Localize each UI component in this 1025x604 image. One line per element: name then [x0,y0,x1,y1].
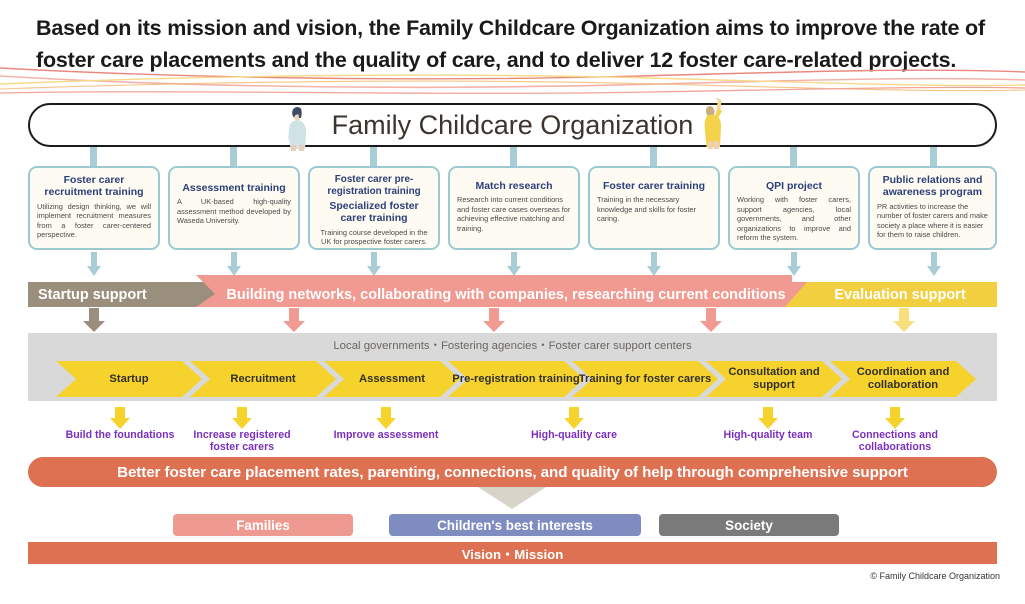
card-body: Working with foster carers, support agen… [737,195,851,242]
project-card-assessment-training[interactable]: Assessment training A UK-based high-qual… [168,166,300,250]
connector-stem [650,147,657,167]
project-card-match-research[interactable]: Match research Research into current con… [448,166,580,250]
connector-stem [230,147,237,167]
card-body: Training course developed in the UK for … [317,228,431,247]
pillar-childrens-best-interests[interactable]: Children's best interests [389,514,641,536]
person-standing-icon [286,103,316,151]
card-body: Research into current conditions and fos… [457,195,571,233]
process-step-label: Training for foster carers [576,361,714,397]
pillar-society[interactable]: Society [659,514,839,536]
down-arrow-icon [787,252,801,276]
person-raising-hand-icon [702,97,730,149]
down-arrow-icon [376,407,396,429]
card-title: Foster carer training [597,174,711,192]
down-arrow-icon [87,252,101,276]
down-arrow-icon [110,407,130,429]
vision-mission-banner: Vision・Mission [28,542,997,564]
down-arrow-icon [83,308,105,332]
process-step-label: Startup [56,361,202,397]
project-card-foster-carer-recruitment-training[interactable]: Foster carer recruitment training Utiliz… [28,166,160,250]
card-body: A UK-based high-quality assessment metho… [177,197,291,225]
project-card-public-relations-and-awareness-program[interactable]: Public relations and awareness program P… [868,166,997,250]
down-arrow-icon [700,308,722,332]
band-evaluation-support-label: Evaluation support [810,282,990,307]
card-body: Training in the necessary knowledge and … [597,195,711,223]
outcome-label: High-quality care [512,429,636,441]
result-banner: Better foster care placement rates, pare… [28,457,997,487]
process-step-label: Consultation and support [710,361,838,397]
connector-stem [930,147,937,167]
card-title: Foster carer recruitment training [37,174,151,199]
project-card-foster-carer-pre-registration-training[interactable]: Foster carer pre-registration training S… [308,166,440,250]
card-title: Match research [457,174,571,192]
down-arrow-icon [232,407,252,429]
down-arrow-icon [483,308,505,332]
process-step-label: Recruitment [190,361,336,397]
pillar-label: Families [236,518,290,533]
card-title: Public relations and awareness program [877,174,988,199]
down-arrow-icon [758,407,778,429]
card-subtitle: Specialized foster carer training [317,200,431,225]
band-building-networks-label: Building networks, collaborating with co… [216,282,796,307]
band-startup-support-label: Startup support [38,282,218,307]
card-title: Foster carer pre-registration training [317,174,431,199]
pillar-label: Children's best interests [437,518,593,533]
connector-stem [510,147,517,167]
card-title: Assessment training [177,174,291,194]
outcome-label: Increase registered foster carers [182,429,302,454]
connector-stem [370,147,377,167]
outcome-label: Improve assessment [316,429,456,441]
copyright-notice: © Family Childcare Organization [0,571,1000,581]
project-card-qpi-project[interactable]: QPI project Working with foster carers, … [728,166,860,250]
down-triangle-icon [478,487,546,509]
down-arrow-icon [283,308,305,332]
connector-stem [90,147,97,167]
down-arrow-icon [507,252,521,276]
card-title: QPI project [737,174,851,192]
process-step-label: Pre-registration training [452,361,580,397]
outcome-label: Connections and collaborations [835,429,955,454]
down-arrow-icon [885,407,905,429]
connector-stem [790,147,797,167]
process-partners-label: Local governments・Fostering agencies・Fos… [28,337,997,353]
process-step-label: Coordination and collaboration [834,361,972,397]
down-arrow-icon [927,252,941,276]
project-card-foster-carer-training[interactable]: Foster carer training Training in the ne… [588,166,720,250]
outcome-label: High-quality team [706,429,830,441]
organization-header-bar [28,103,997,147]
pillar-label: Society [725,518,773,533]
process-step-label: Assessment [324,361,460,397]
down-arrow-icon [647,252,661,276]
headline-line-1: Based on its mission and vision, the Fam… [36,12,1001,44]
down-arrow-icon [227,252,241,276]
pillar-families[interactable]: Families [173,514,353,536]
down-arrow-icon [367,252,381,276]
down-arrow-icon [564,407,584,429]
outcome-label: Build the foundations [50,429,190,441]
card-body: Utilizing design thinking, we will imple… [37,202,151,240]
diagram-root: Based on its mission and vision, the Fam… [0,0,1025,604]
down-arrow-icon [893,308,915,332]
decorative-waves [0,62,1025,102]
card-body: PR activities to increase the number of … [877,202,988,240]
